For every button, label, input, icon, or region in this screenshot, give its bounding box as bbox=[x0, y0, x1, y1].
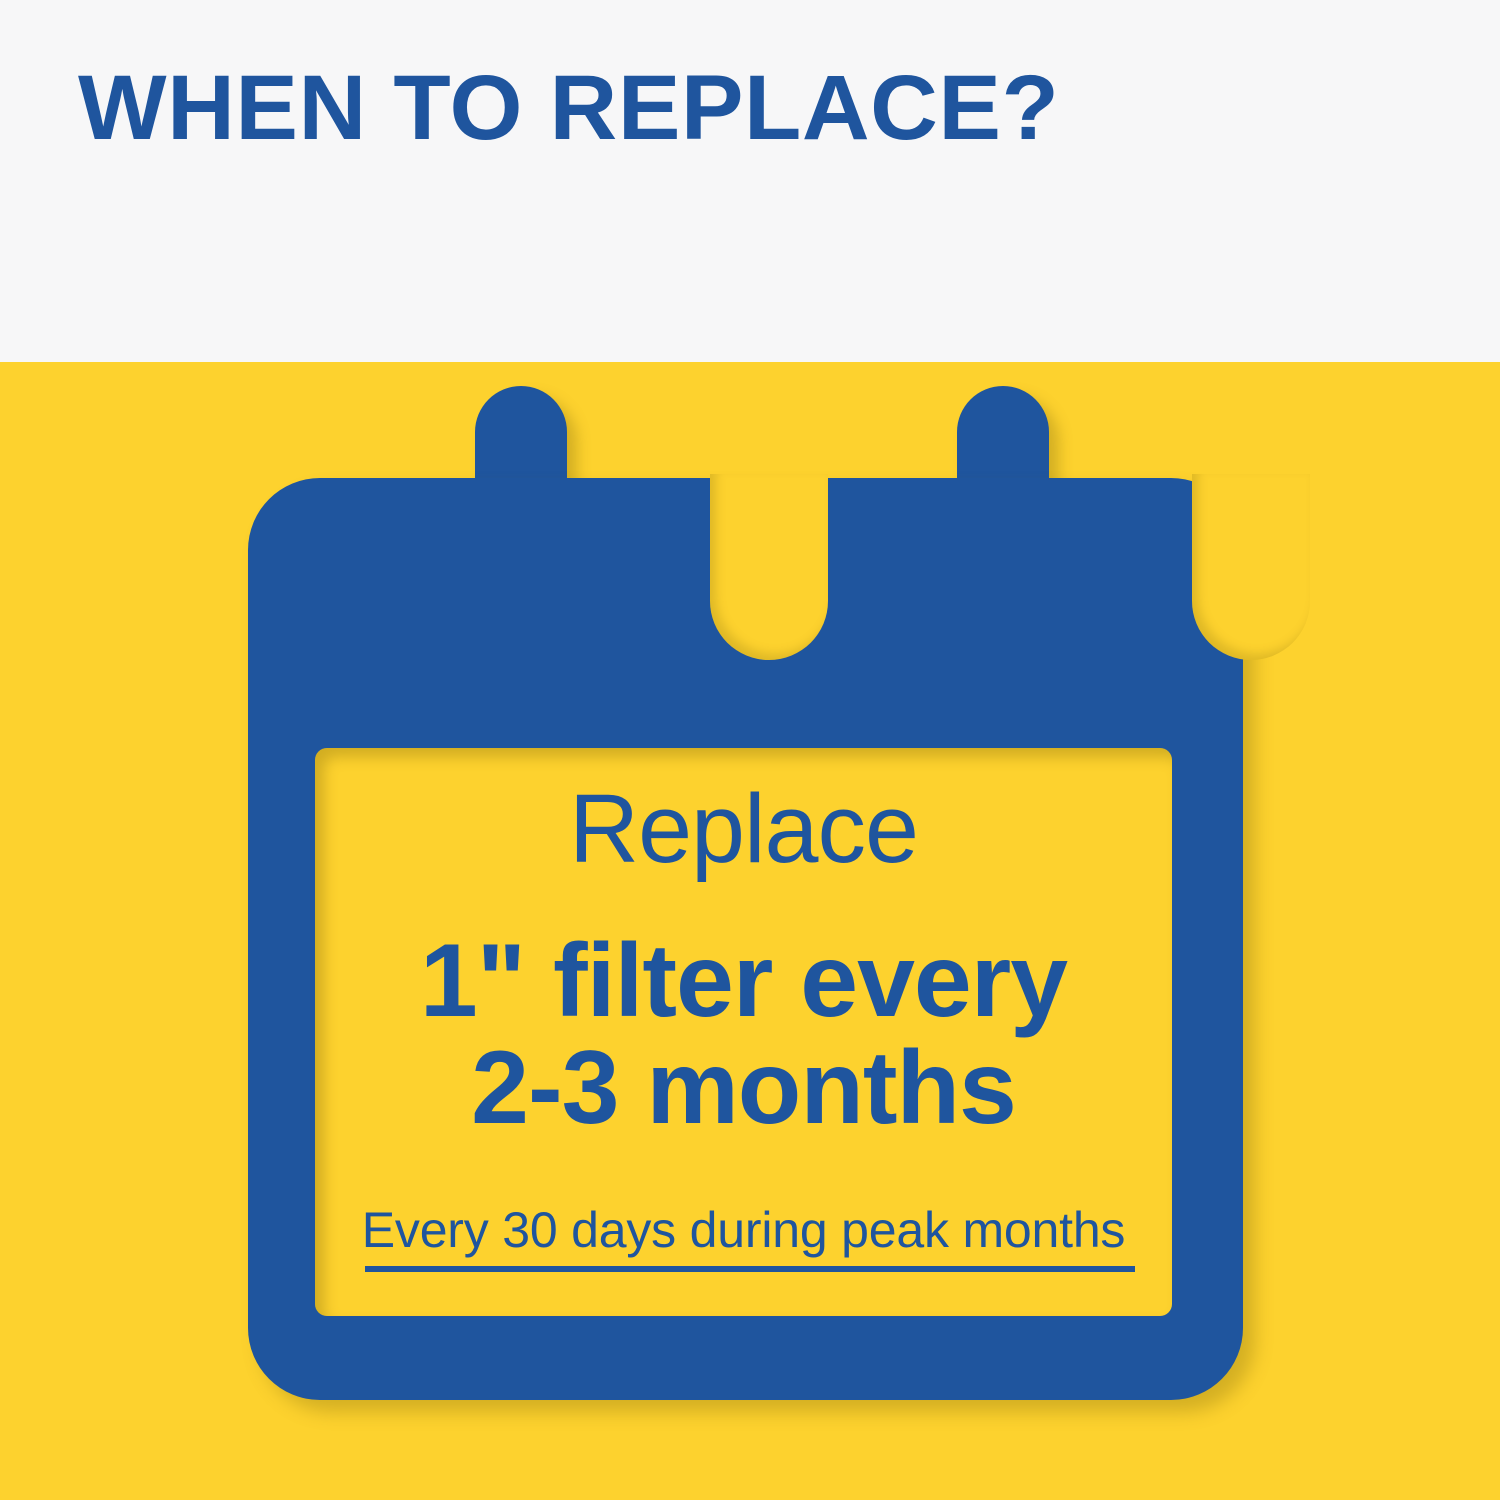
calendar-body: Replace 1" filter every 2-3 months Every… bbox=[248, 478, 1243, 1400]
page-title: WHEN TO REPLACE? bbox=[78, 62, 1059, 154]
calendar-icon: Replace 1" filter every 2-3 months Every… bbox=[0, 362, 1500, 1500]
calendar-notch-left bbox=[710, 474, 828, 660]
calendar-window: Replace 1" filter every 2-3 months Every… bbox=[315, 748, 1172, 1316]
replace-eyebrow-label: Replace bbox=[315, 780, 1172, 877]
headline-line-2: 2-3 months bbox=[315, 1036, 1172, 1140]
headline-line-1: 1" filter every bbox=[315, 929, 1172, 1033]
caption-underline-rule bbox=[365, 1266, 1135, 1272]
calendar-window-text: Replace 1" filter every 2-3 months Every… bbox=[315, 748, 1172, 1316]
calendar-notch-right bbox=[1192, 474, 1310, 660]
caption-block: Every 30 days during peak months bbox=[315, 1203, 1172, 1257]
header-band: WHEN TO REPLACE? bbox=[0, 0, 1500, 362]
caption-text: Every 30 days during peak months bbox=[315, 1203, 1172, 1257]
yellow-content-panel: Replace 1" filter every 2-3 months Every… bbox=[0, 362, 1500, 1500]
infographic-page: WHEN TO REPLACE? Replace 1" filter every… bbox=[0, 0, 1500, 1500]
